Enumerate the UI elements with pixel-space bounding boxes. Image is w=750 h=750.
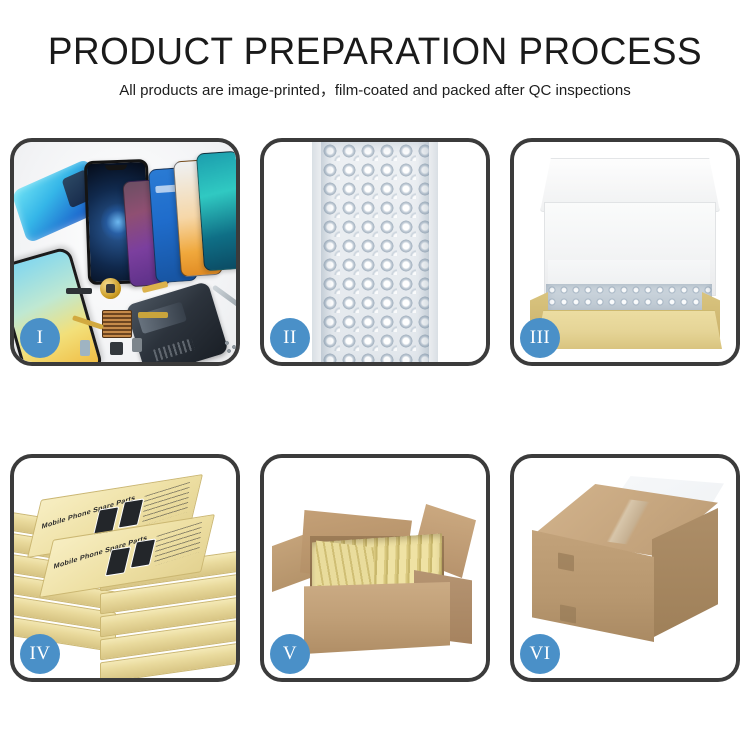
phone-teal-icon bbox=[196, 151, 236, 272]
product-preparation-infographic: PRODUCT PREPARATION PROCESS All products… bbox=[0, 0, 750, 750]
flex-cable-3-icon bbox=[138, 312, 168, 318]
tweezers-icon bbox=[212, 284, 236, 308]
page-title: PRODUCT PREPARATION PROCESS bbox=[11, 30, 739, 74]
packed-boxes-row-2 bbox=[316, 540, 374, 591]
copper-grid-icon bbox=[102, 310, 132, 338]
step-panel-1[interactable]: I bbox=[10, 138, 240, 366]
step-panel-2[interactable]: II bbox=[260, 138, 490, 366]
step-panel-3[interactable]: III bbox=[510, 138, 740, 366]
small-part-1-icon bbox=[80, 340, 90, 356]
box-front-panel bbox=[536, 310, 722, 349]
speaker-coil-icon bbox=[100, 278, 121, 299]
bubble-wrap-icon bbox=[321, 142, 429, 362]
step-badge-2: II bbox=[270, 318, 310, 358]
screws-icon bbox=[224, 340, 236, 354]
small-part-3-icon bbox=[132, 338, 142, 352]
carton-handle-tab-1 bbox=[558, 552, 574, 571]
step-panel-4[interactable]: Mobile Phone Spare Parts Mobile Phone Sp… bbox=[10, 454, 240, 682]
step-panel-6[interactable]: VI bbox=[510, 454, 740, 682]
step-badge-1: I bbox=[20, 318, 60, 358]
step-badge-3: III bbox=[520, 318, 560, 358]
earpiece-bar-icon bbox=[66, 288, 92, 294]
step-badge-5: V bbox=[270, 634, 310, 674]
step-badge-6: VI bbox=[520, 634, 560, 674]
step-badge-4: IV bbox=[20, 634, 60, 674]
page-subtitle: All products are image-printed，film-coat… bbox=[4, 81, 747, 101]
step-panel-5[interactable]: V bbox=[260, 454, 490, 682]
steps-grid: I II bbox=[10, 138, 740, 683]
small-part-2-icon bbox=[110, 342, 123, 355]
box-spec-lines bbox=[154, 522, 202, 566]
bubble-wrapped-content-icon bbox=[546, 284, 712, 314]
carton-front-panel bbox=[304, 582, 450, 654]
header: PRODUCT PREPARATION PROCESS All products… bbox=[0, 30, 750, 101]
carton-handle-tab-2 bbox=[560, 604, 576, 623]
